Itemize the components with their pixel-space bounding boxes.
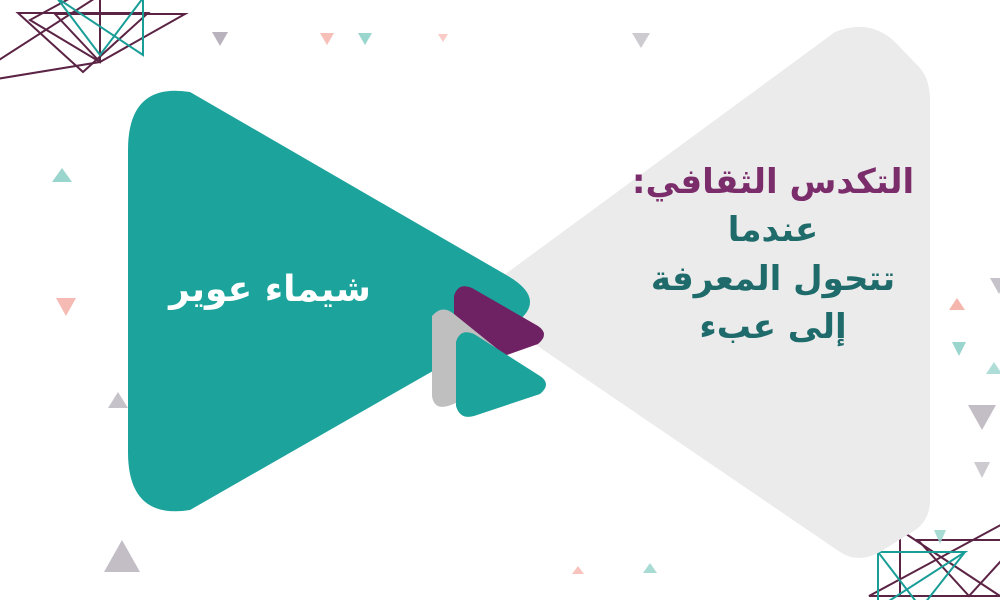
slide-canvas: شيماء عوير التكدس الثقافي: عندما تتحول ا… xyxy=(0,0,1000,600)
title-line-3: تتحول المعرفة xyxy=(608,255,938,303)
title-line-2: عندما xyxy=(608,206,938,254)
title-line-4: إلى عبء xyxy=(608,303,938,351)
author-name: شيماء عوير xyxy=(120,268,420,311)
play-triangles-logo xyxy=(408,272,558,417)
title-line-1: التكدس الثقافي: xyxy=(608,158,938,206)
slide-title: التكدس الثقافي: عندما تتحول المعرفة إلى … xyxy=(608,158,938,351)
